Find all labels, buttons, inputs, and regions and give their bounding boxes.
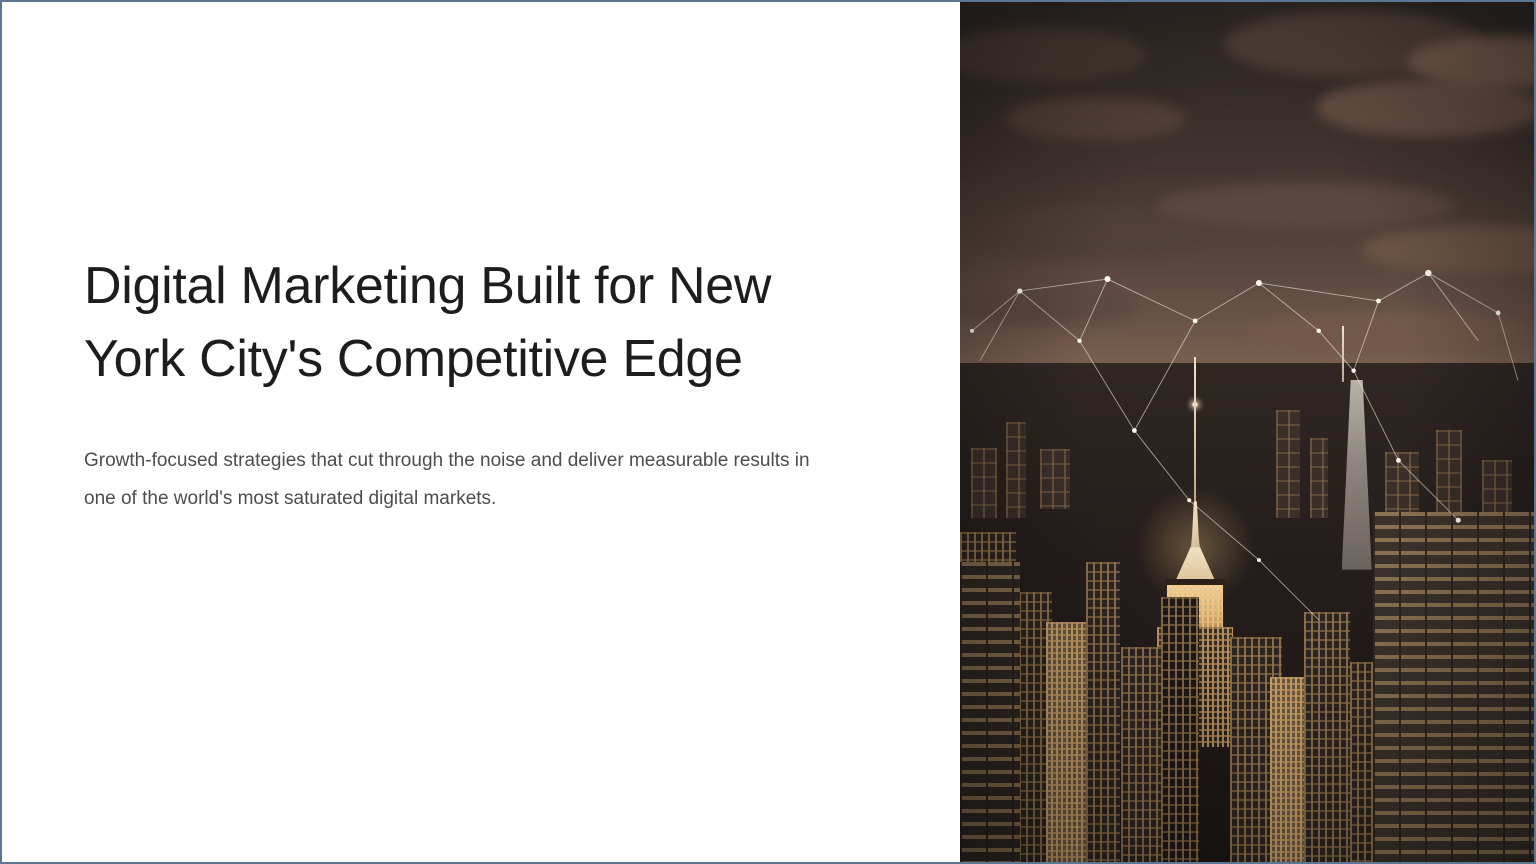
hero-copy-block: Digital Marketing Built for New York Cit… <box>84 250 874 518</box>
distant-building <box>1276 410 1300 518</box>
window-grid <box>1040 449 1070 509</box>
window-grid <box>1310 438 1328 518</box>
esb-antenna <box>1194 357 1196 507</box>
distant-building <box>1385 452 1419 518</box>
distant-building <box>1310 438 1328 518</box>
distant-building <box>1482 460 1512 518</box>
cloud-shape <box>1006 97 1186 141</box>
window-grid <box>971 448 997 518</box>
foreground-tower <box>1373 512 1534 862</box>
page-title: Digital Marketing Built for New York Cit… <box>84 250 874 396</box>
midground-building <box>1121 647 1165 862</box>
distant-building <box>1040 449 1070 509</box>
window-grid <box>1304 612 1350 862</box>
distant-building <box>1436 430 1462 518</box>
hero-image-panel <box>960 2 1534 862</box>
midground-building <box>1086 562 1120 862</box>
window-grid <box>1161 597 1199 862</box>
cloud-shape <box>1155 183 1455 229</box>
hero-text-panel: Digital Marketing Built for New York Cit… <box>2 2 960 862</box>
window-grid <box>1086 562 1120 862</box>
window-grid <box>1385 452 1419 518</box>
window-grid <box>1276 410 1300 518</box>
window-grid <box>1436 430 1462 518</box>
cloud-shape <box>960 286 1139 326</box>
window-grid <box>1270 677 1306 862</box>
midground-building <box>1161 597 1199 862</box>
hero-slide: Digital Marketing Built for New York Cit… <box>0 0 1536 864</box>
hero-subheadline: Growth-focused strategies that cut throu… <box>84 442 844 518</box>
distant-building <box>971 448 997 518</box>
window-grid <box>1373 512 1534 862</box>
cloud-shape <box>1247 312 1527 354</box>
distant-building <box>1006 422 1026 518</box>
nyc-skyline-illustration <box>960 2 1534 862</box>
one-wtc-spire <box>1342 326 1344 382</box>
window-grid <box>960 562 1020 862</box>
window-grid <box>1006 422 1026 518</box>
foreground-tower-left <box>960 562 1020 862</box>
window-grid <box>1121 647 1165 862</box>
midground-building <box>1304 612 1350 862</box>
window-grid <box>1482 460 1512 518</box>
lit-midground-building <box>1270 677 1306 862</box>
